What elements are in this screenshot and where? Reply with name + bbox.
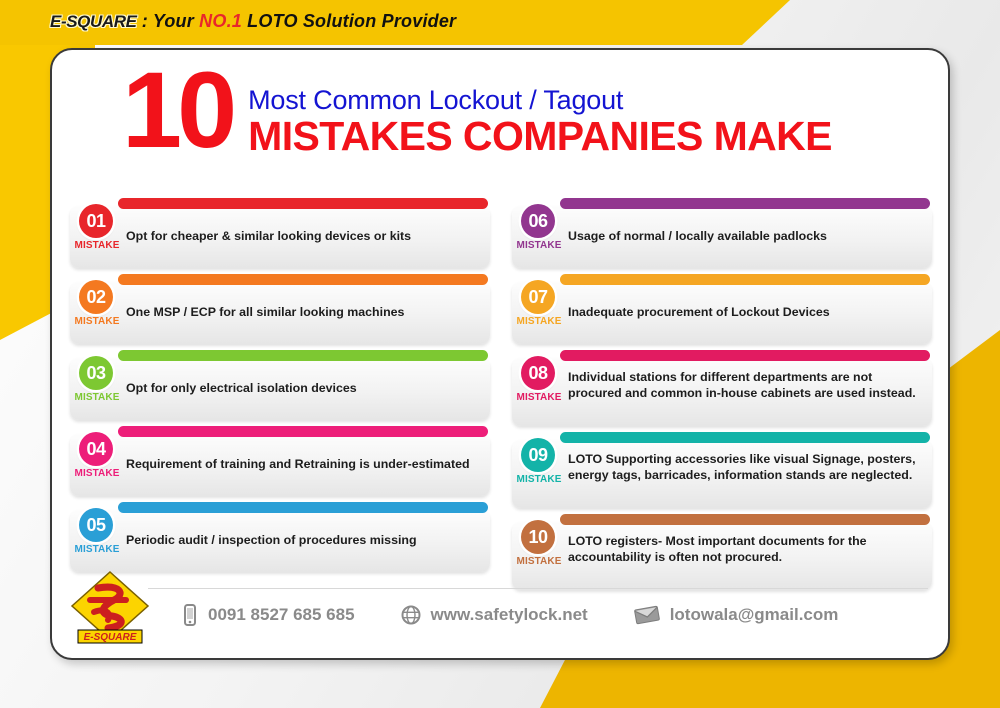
- brand-logotype: E-SQUARE: [50, 12, 137, 31]
- mistake-item-01: 01MISTAKEOpt for cheaper & similar looki…: [70, 198, 490, 260]
- mistake-label: MISTAKE: [74, 544, 120, 555]
- mistake-number-badge: 07: [521, 280, 555, 314]
- mistake-text: One MSP / ECP for all similar looking ma…: [126, 282, 482, 344]
- mistake-label: MISTAKE: [516, 316, 562, 327]
- mistake-text: Individual stations for different depart…: [568, 358, 924, 426]
- mistake-text: Periodic audit / inspection of procedure…: [126, 510, 482, 572]
- mistake-label: MISTAKE: [516, 474, 562, 485]
- tagline-after: LOTO Solution Provider: [242, 11, 456, 31]
- mistake-text: Requirement of training and Retraining i…: [126, 434, 482, 496]
- mistake-number-badge: 03: [79, 356, 113, 390]
- svg-text:E-SQUARE: E-SQUARE: [84, 632, 137, 643]
- mistakes-grid: 01MISTAKEOpt for cheaper & similar looki…: [52, 198, 952, 596]
- globe-icon: [401, 605, 421, 625]
- mistake-text: Opt for only electrical isolation device…: [126, 358, 482, 420]
- mistake-label: MISTAKE: [516, 556, 562, 567]
- contact-value: lotowala@gmail.com: [670, 605, 839, 625]
- mistake-item-03: 03MISTAKEOpt for only electrical isolati…: [70, 350, 490, 412]
- mistake-number-badge: 10: [521, 520, 555, 554]
- mistake-item-02: 02MISTAKEOne MSP / ECP for all similar l…: [70, 274, 490, 336]
- tagline-before: Your: [153, 11, 199, 31]
- heading-subtitle: Most Common Lockout / Tagout: [248, 86, 832, 114]
- contact-envelope[interactable]: lotowala@gmail.com: [634, 605, 839, 625]
- mistake-number-badge: 06: [521, 204, 555, 238]
- mistakes-column-right: 06MISTAKEUsage of normal / locally avail…: [512, 198, 932, 596]
- envelope-icon: [634, 605, 660, 625]
- mistake-item-08: 08MISTAKEIndividual stations for differe…: [512, 350, 932, 418]
- mistake-text: Inadequate procurement of Lockout Device…: [568, 282, 924, 344]
- mistake-number-badge: 02: [79, 280, 113, 314]
- tagline-highlight: NO.1: [199, 11, 242, 31]
- top-banner-text: E-SQUARE : Your NO.1 LOTO Solution Provi…: [50, 11, 456, 32]
- mistakes-column-left: 01MISTAKEOpt for cheaper & similar looki…: [70, 198, 490, 596]
- contact-globe[interactable]: www.safetylock.net: [401, 605, 588, 625]
- mistake-number-badge: 01: [79, 204, 113, 238]
- mistake-text: Usage of normal / locally available padl…: [568, 206, 924, 268]
- mistake-item-09: 09MISTAKELOTO Supporting accessories lik…: [512, 432, 932, 500]
- footer-contacts: 0091 8527 685 685www.safetylock.netlotow…: [182, 604, 932, 626]
- mistake-label: MISTAKE: [74, 316, 120, 327]
- mistake-text: LOTO Supporting accessories like visual …: [568, 440, 924, 508]
- mistake-item-04: 04MISTAKERequirement of training and Ret…: [70, 426, 490, 488]
- poster-heading: 10 Most Common Lockout / Tagout MISTAKES…: [122, 64, 832, 157]
- mistake-number-badge: 09: [521, 438, 555, 472]
- brand-separator: :: [137, 11, 153, 31]
- infographic-poster: E-SQUARE : Your NO.1 LOTO Solution Provi…: [0, 0, 1000, 708]
- mistake-text: LOTO registers- Most important documents…: [568, 522, 924, 590]
- mistake-label: MISTAKE: [74, 392, 120, 403]
- mistake-number-badge: 04: [79, 432, 113, 466]
- heading-title: MISTAKES COMPANIES MAKE: [248, 116, 832, 157]
- contact-value: 0091 8527 685 685: [208, 605, 355, 625]
- mistake-item-07: 07MISTAKEInadequate procurement of Locko…: [512, 274, 932, 336]
- mistake-label: MISTAKE: [516, 392, 562, 403]
- mistake-item-05: 05MISTAKEPeriodic audit / inspection of …: [70, 502, 490, 564]
- mistake-item-10: 10MISTAKELOTO registers- Most important …: [512, 514, 932, 582]
- contact-value: www.safetylock.net: [431, 605, 588, 625]
- contact-phone[interactable]: 0091 8527 685 685: [182, 604, 355, 626]
- mistake-label: MISTAKE: [74, 240, 120, 251]
- main-content-card: 10 Most Common Lockout / Tagout MISTAKES…: [50, 48, 950, 660]
- heading-number: 10: [122, 64, 232, 157]
- mistake-number-badge: 08: [521, 356, 555, 390]
- mistake-text: Opt for cheaper & similar looking device…: [126, 206, 482, 268]
- phone-icon: [182, 604, 198, 626]
- mistake-label: MISTAKE: [74, 468, 120, 479]
- company-logo: E-SQUARE: [68, 570, 152, 646]
- mistake-label: MISTAKE: [516, 240, 562, 251]
- mistake-item-06: 06MISTAKEUsage of normal / locally avail…: [512, 198, 932, 260]
- mistake-number-badge: 05: [79, 508, 113, 542]
